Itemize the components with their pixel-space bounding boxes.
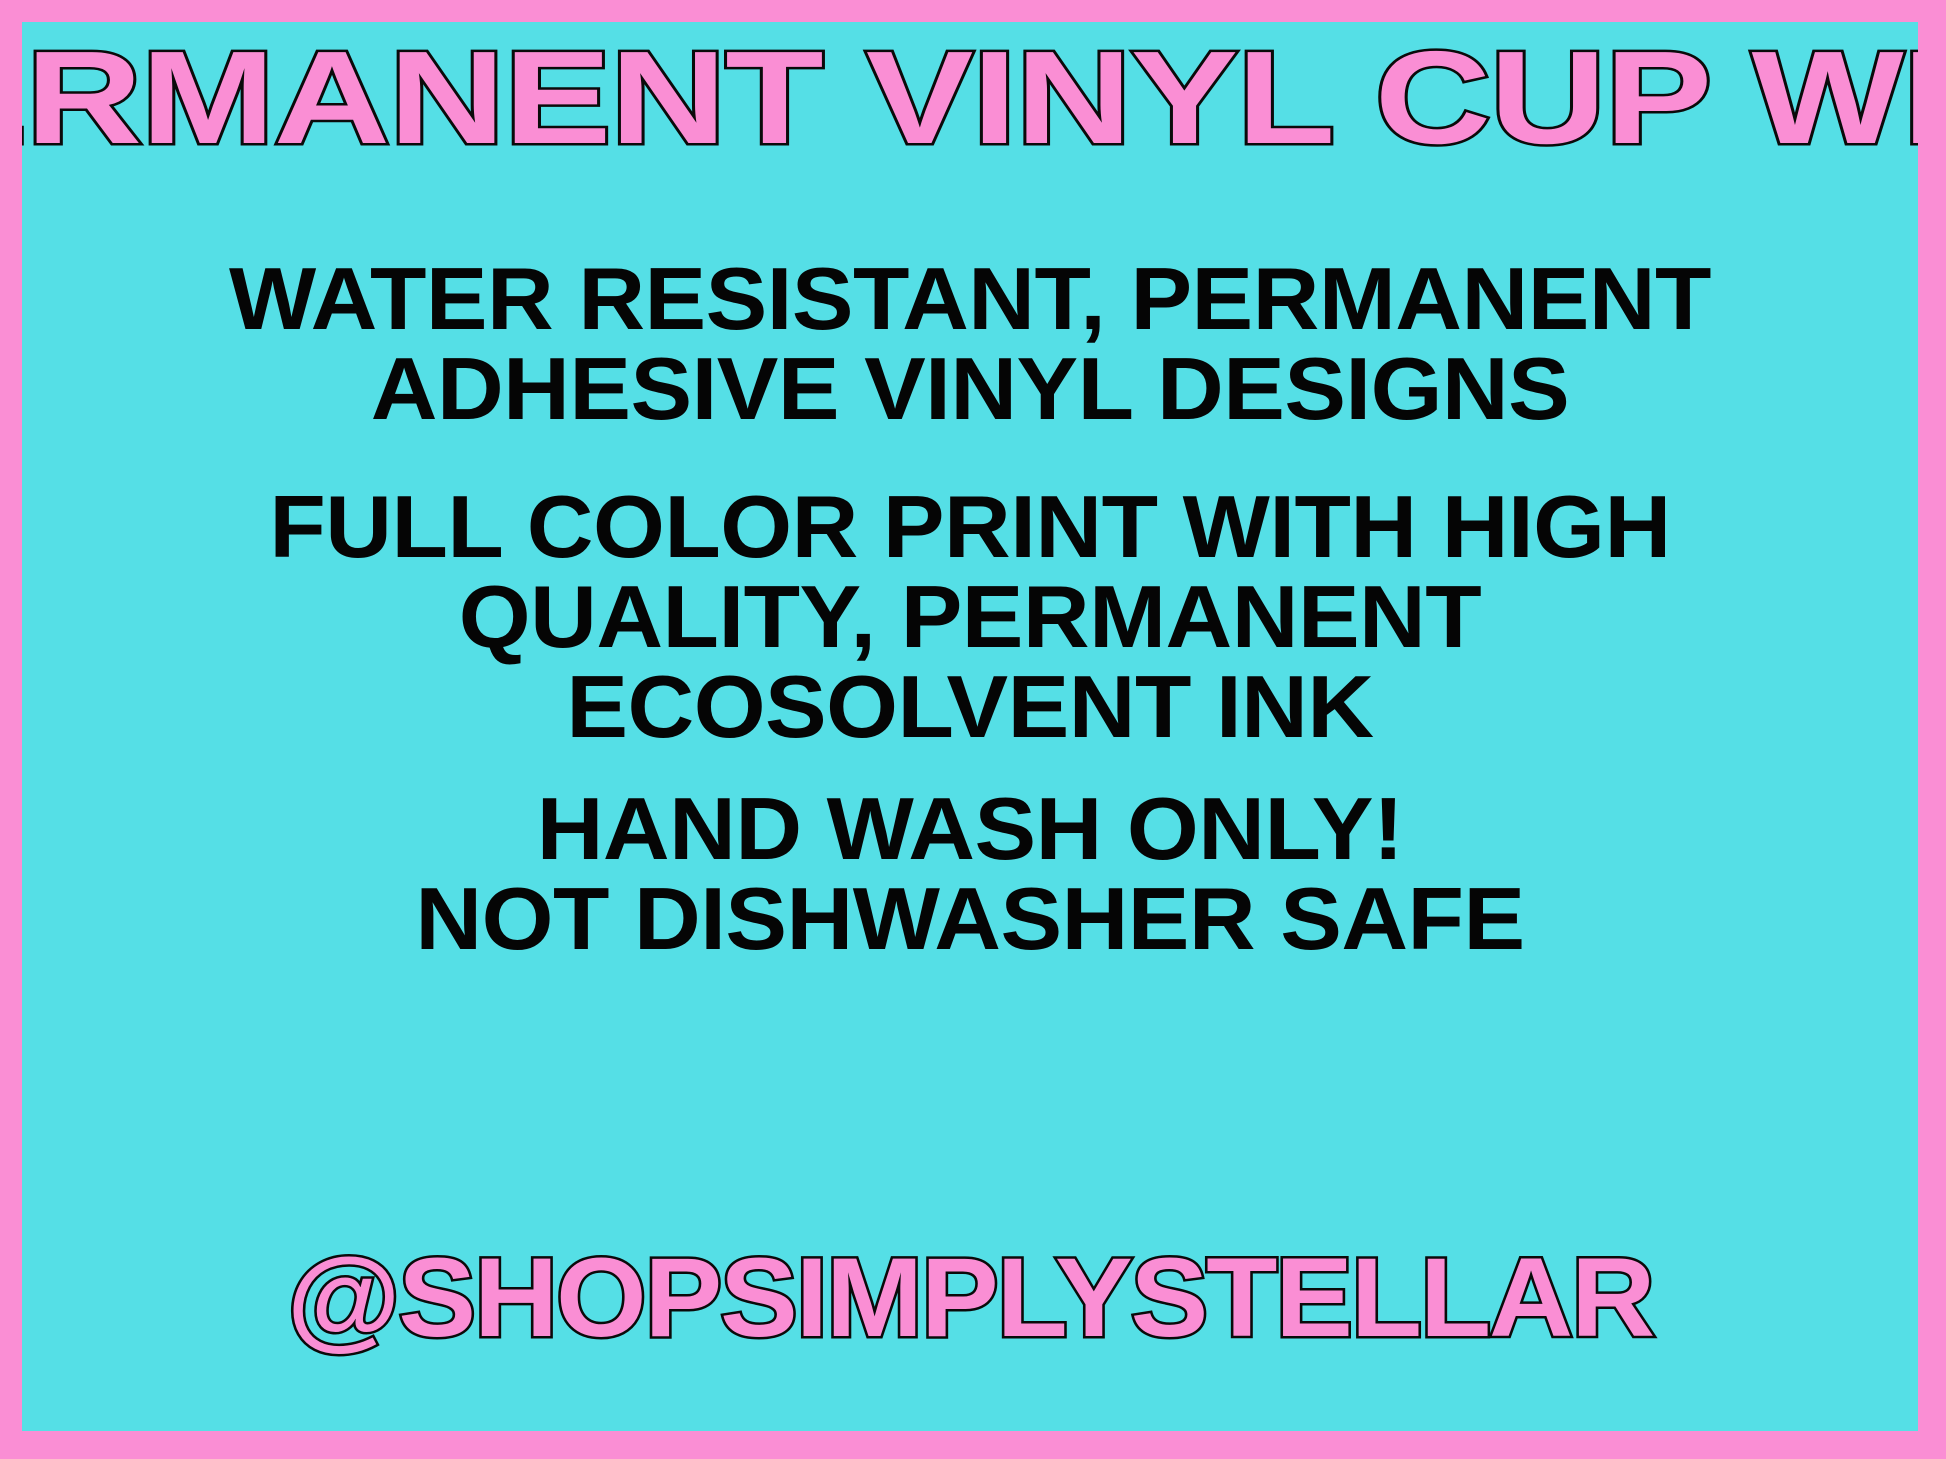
- care-line: HAND WASH ONLY!: [22, 784, 1918, 874]
- feature-line: QUALITY, PERMANENT: [22, 572, 1918, 662]
- feature-line: ADHESIVE VINYL DESIGNS: [22, 344, 1918, 434]
- care-instructions-block: HAND WASH ONLY! NOT DISHWASHER SAFE: [22, 784, 1918, 964]
- feature-line: WATER RESISTANT, PERMANENT: [22, 254, 1918, 344]
- page-title: PERMANENT VINYL CUP WRAP: [22, 32, 1918, 164]
- shop-handle: @SHOPSIMPLYSTELLAR: [22, 1242, 1918, 1354]
- feature-line: FULL COLOR PRINT WITH HIGH: [22, 482, 1918, 572]
- feature-line: ECOSOLVENT INK: [22, 662, 1918, 752]
- feature-block-water-resistant: WATER RESISTANT, PERMANENT ADHESIVE VINY…: [22, 254, 1918, 434]
- poster-inner-panel: PERMANENT VINYL CUP WRAP WATER RESISTANT…: [22, 22, 1918, 1431]
- care-line: NOT DISHWASHER SAFE: [22, 874, 1918, 964]
- product-info-poster: PERMANENT VINYL CUP WRAP WATER RESISTANT…: [0, 0, 1946, 1459]
- feature-block-full-color-print: FULL COLOR PRINT WITH HIGH QUALITY, PERM…: [22, 482, 1918, 751]
